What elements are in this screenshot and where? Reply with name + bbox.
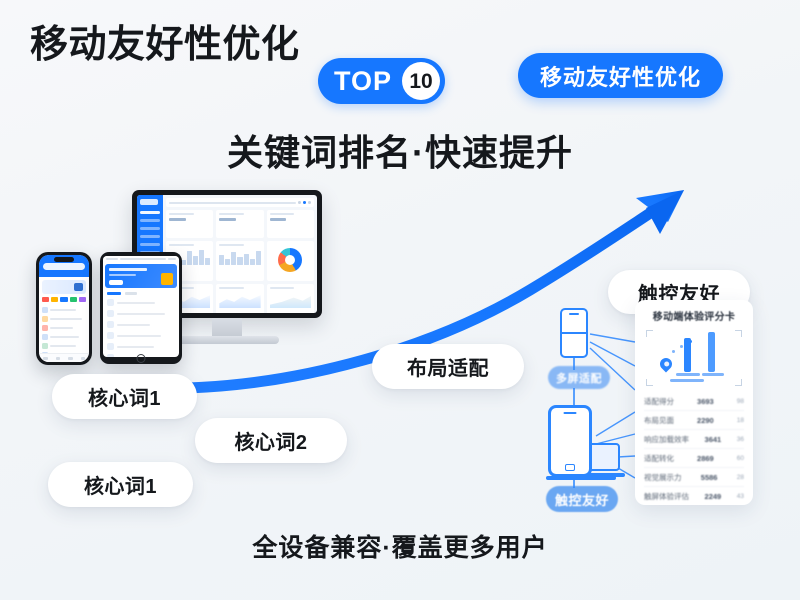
scorecard-row-name: 响应加载效率 [644, 434, 689, 445]
phone-tabbar[interactable] [39, 353, 89, 362]
dashboard-card [267, 210, 314, 238]
scorecard-title: 移动端体验评分卡 [644, 308, 744, 323]
monitor-stand [212, 318, 242, 336]
scorecard-row-delta: 43 [737, 493, 744, 500]
dashboard-chart-card [216, 241, 263, 281]
dashboard-area-card [267, 284, 314, 313]
dashboard-card [166, 210, 213, 238]
scorecard-row-name: 触屏体验评估 [644, 491, 689, 502]
scorecard-row: 适配得分369398 [644, 392, 744, 411]
scorecard-row-value: 2290 [697, 416, 714, 425]
scorecard-row-value: 3641 [705, 435, 722, 444]
tablet-mockup [100, 252, 182, 364]
dashboard-donut-card [267, 241, 314, 281]
tablet-tabs[interactable] [103, 290, 179, 297]
scorecard-row: 触屏体验评估224943 [644, 487, 744, 506]
page-title: 移动友好性优化 [30, 26, 300, 64]
scorecard-row-value: 3693 [697, 397, 714, 406]
scorecard-row-name: 视觉展示力 [644, 472, 682, 483]
large-phone-icon [548, 405, 592, 477]
scorecard-row-value: 2249 [705, 492, 722, 501]
scorecard-row: 响应加载效率364136 [644, 430, 744, 449]
keyword-pill-1[interactable]: 核心词1 [52, 374, 197, 419]
scorecard-row-delta: 98 [737, 398, 744, 405]
keyword-pill-3[interactable]: 核心词1 [48, 462, 193, 507]
smartphone-mockup [36, 252, 92, 365]
donut-chart-icon [278, 248, 302, 272]
scorecard-row-name: 适配得分 [644, 396, 674, 407]
scorecard-row-name: 适配转化 [644, 453, 674, 464]
device-mockup-group [22, 190, 342, 390]
top-badge-number: 10 [402, 62, 440, 100]
scorecard-row-value: 5586 [701, 473, 718, 482]
phone-search-bar [43, 263, 85, 270]
scorecard-row: 适配转化286960 [644, 449, 744, 468]
tablet-statusbar [103, 256, 179, 262]
footer-slogan: 全设备兼容·覆盖更多用户 [0, 528, 800, 564]
scorecard-chart [646, 330, 742, 386]
keyword-pill-2[interactable]: 核心词2 [195, 418, 347, 463]
top-rank-badge: TOP 10 [318, 58, 445, 104]
dashboard-card [216, 210, 263, 238]
location-pin-icon [658, 356, 675, 373]
scorecard-row-delta: 36 [737, 436, 744, 443]
phone-promo-banner [42, 280, 86, 294]
scorecard-row-value: 2869 [697, 454, 714, 463]
layout-adaptation-pill[interactable]: 布局适配 [372, 344, 524, 389]
monitor-base [175, 336, 279, 344]
top-badge-label: TOP [334, 68, 402, 95]
phone-notch [54, 257, 74, 262]
dashboard-area-card [216, 284, 263, 313]
header-tag-pill: 移动友好性优化 [518, 53, 723, 98]
scorecard-row-list: 适配得分369398布局见面229018响应加载效率364136适配转化2869… [644, 392, 744, 506]
tablet-home-button[interactable] [137, 354, 146, 363]
scorecard-row-delta: 60 [737, 455, 744, 462]
phone-quick-icons [39, 297, 89, 305]
dashboard-topbar [166, 198, 314, 207]
scorecard-row: 视觉展示力558628 [644, 468, 744, 487]
scorecard-row-delta: 28 [737, 474, 744, 481]
scorecard-row-delta: 18 [737, 417, 744, 424]
tablet-banner [105, 264, 177, 288]
scorecard-row: 布局见面229018 [644, 411, 744, 430]
banner-badge-icon [161, 273, 173, 285]
scorecard: 移动端体验评分卡 适配得分369398布局见面229018响应加载效率36413… [635, 300, 753, 505]
mobile-experience-panel: 多屏适配 触控友好 移动端体验评分卡 适 [540, 300, 790, 510]
scorecard-row-name: 布局见面 [644, 415, 674, 426]
